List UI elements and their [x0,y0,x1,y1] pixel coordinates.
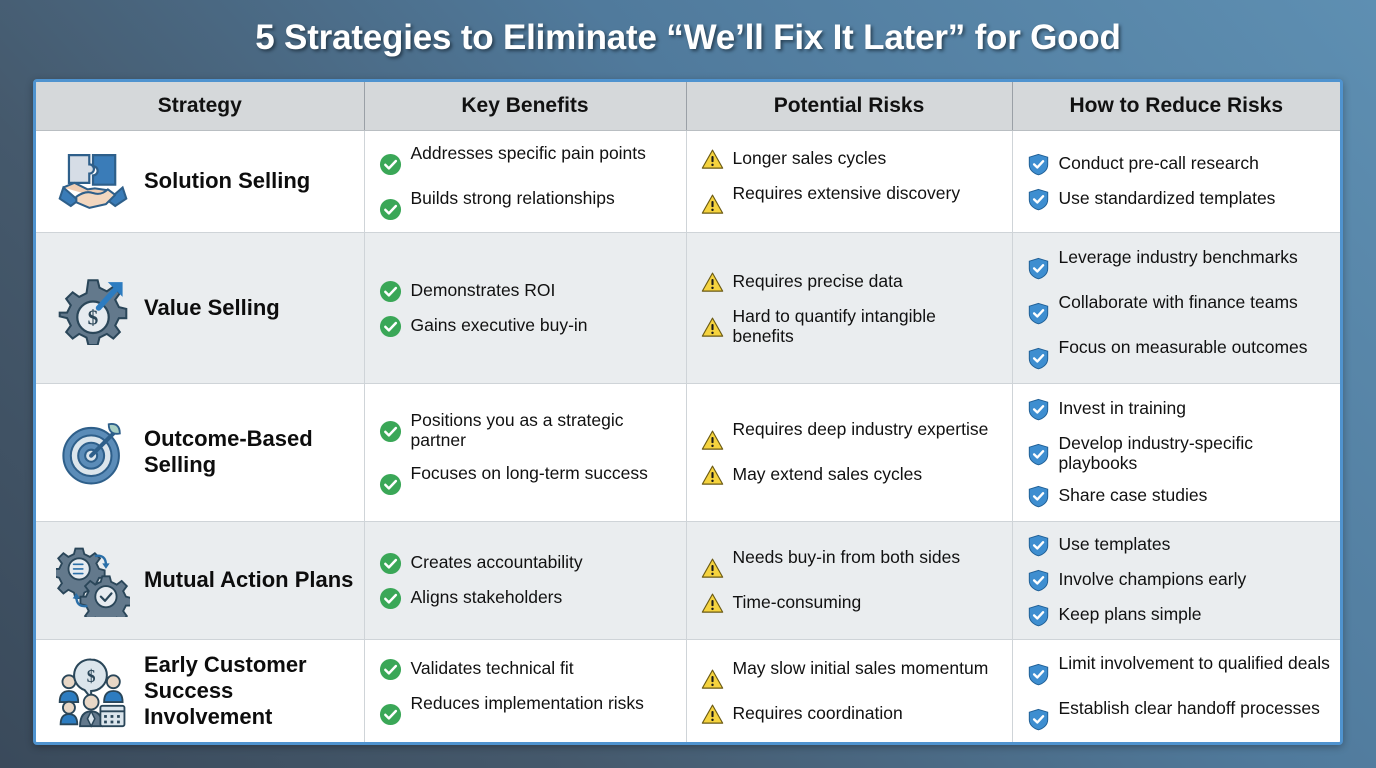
list-item: Aligns stakeholders [379,586,676,610]
list-item-label: Reduces implementation risks [411,692,644,713]
yellow-warning-triangle-icon [701,148,724,171]
blue-shield-check-icon [1027,443,1050,466]
list-item: Creates accountability [379,551,676,575]
list-item: Share case studies [1027,484,1331,508]
yellow-warning-triangle-icon [701,271,724,294]
list-item-label: Hard to quantify intangible benefits [733,305,1002,347]
team-calendar-icon [56,654,130,728]
cell-strategy: Early Customer Success Involvement [36,640,364,742]
yellow-warning-triangle-icon [701,557,724,580]
benefits-list: Creates accountabilityAligns stakeholder… [379,551,676,610]
list-item: Needs buy-in from both sides [701,546,1002,580]
strategy-name: Mutual Action Plans [144,567,353,593]
benefits-list: Positions you as a strategic partnerFocu… [379,409,676,496]
cell-reduce: Limit involvement to qualified dealsEsta… [1012,640,1340,742]
list-item: Demonstrates ROI [379,279,676,303]
list-item-label: Conduct pre-call research [1059,152,1259,173]
risks-list: Requires precise dataHard to quantify in… [701,270,1002,347]
column-header-potential-risks: Potential Risks [686,82,1012,130]
risks-list: May slow initial sales momentumRequires … [701,657,1002,726]
green-check-circle-icon [379,658,402,681]
reduce-list: Limit involvement to qualified dealsEsta… [1027,652,1331,731]
list-item-label: Gains executive buy-in [411,314,588,335]
list-item: Requires coordination [701,702,1002,726]
green-check-circle-icon [379,153,402,176]
yellow-warning-triangle-icon [701,464,724,487]
list-item-label: May extend sales cycles [733,463,923,484]
list-item: Leverage industry benchmarks [1027,246,1331,280]
cell-risks: Needs buy-in from both sidesTime-consumi… [686,521,1012,640]
yellow-warning-triangle-icon [701,592,724,615]
list-item: Establish clear handoff processes [1027,697,1331,731]
blue-shield-check-icon [1027,347,1050,370]
list-item: Builds strong relationships [379,187,676,221]
list-item-label: Share case studies [1059,484,1208,505]
blue-shield-check-icon [1027,708,1050,731]
table-row: Mutual Action PlansCreates accountabilit… [36,521,1340,640]
cell-strategy: Outcome-Based Selling [36,384,364,522]
table-row: Value SellingDemonstrates ROIGains execu… [36,233,1340,384]
table-body: Solution SellingAddresses specific pain … [36,130,1340,742]
list-item: Use standardized templates [1027,187,1331,211]
reduce-list: Invest in trainingDevelop industry-speci… [1027,397,1331,509]
list-item-label: Leverage industry benchmarks [1059,246,1298,267]
cell-risks: May slow initial sales momentumRequires … [686,640,1012,742]
list-item: Keep plans simple [1027,603,1331,627]
cell-reduce: Conduct pre-call researchUse standardize… [1012,130,1340,233]
list-item-label: Develop industry-specific playbooks [1059,432,1331,474]
reduce-list: Conduct pre-call researchUse standardize… [1027,152,1331,211]
cell-strategy: Solution Selling [36,130,364,233]
list-item: Addresses specific pain points [379,142,676,176]
strategy-name: Value Selling [144,295,280,321]
blue-shield-check-icon [1027,257,1050,280]
green-check-circle-icon [379,315,402,338]
list-item: Focus on measurable outcomes [1027,336,1331,370]
cell-risks: Requires precise dataHard to quantify in… [686,233,1012,384]
reduce-list: Use templatesInvolve champions earlyKeep… [1027,533,1331,627]
blue-shield-check-icon [1027,663,1050,686]
table-header-row: Strategy Key Benefits Potential Risks Ho… [36,82,1340,130]
list-item-label: Longer sales cycles [733,147,887,168]
list-item-label: Focuses on long-term success [411,462,648,483]
list-item: Time-consuming [701,591,1002,615]
list-item-label: Keep plans simple [1059,603,1202,624]
blue-shield-check-icon [1027,153,1050,176]
gear-dollar-growth-icon [56,271,130,345]
green-check-circle-icon [379,280,402,303]
list-item-label: Requires extensive discovery [733,182,961,203]
list-item-label: Use templates [1059,533,1171,554]
list-item: Focuses on long-term success [379,462,676,496]
list-item: Develop industry-specific playbooks [1027,432,1331,474]
gears-checklist-icon [56,543,130,617]
table-row: Solution SellingAddresses specific pain … [36,130,1340,233]
list-item: Requires deep industry expertise [701,418,1002,452]
list-item-label: Invest in training [1059,397,1186,418]
list-item: Limit involvement to qualified deals [1027,652,1331,686]
strategy-cell: Mutual Action Plans [50,543,354,617]
cell-benefits: Demonstrates ROIGains executive buy-in [364,233,686,384]
benefits-list: Demonstrates ROIGains executive buy-in [379,279,676,338]
list-item-label: May slow initial sales momentum [733,657,989,678]
strategy-name: Solution Selling [144,168,310,194]
green-check-circle-icon [379,198,402,221]
blue-shield-check-icon [1027,302,1050,325]
list-item-label: Requires coordination [733,702,903,723]
list-item-label: Time-consuming [733,591,862,612]
list-item-label: Focus on measurable outcomes [1059,336,1308,357]
strategies-table: Strategy Key Benefits Potential Risks Ho… [36,82,1340,742]
green-check-circle-icon [379,587,402,610]
risks-list: Requires deep industry expertiseMay exte… [701,418,1002,487]
cell-benefits: Positions you as a strategic partnerFocu… [364,384,686,522]
yellow-warning-triangle-icon [701,316,724,339]
green-check-circle-icon [379,703,402,726]
list-item: Invest in training [1027,397,1331,421]
table-row: Outcome-Based SellingPositions you as a … [36,384,1340,522]
green-check-circle-icon [379,420,402,443]
strategy-cell: Early Customer Success Involvement [50,652,354,730]
table-header: Strategy Key Benefits Potential Risks Ho… [36,82,1340,130]
list-item-label: Requires precise data [733,270,903,291]
list-item-label: Limit involvement to qualified deals [1059,652,1330,673]
list-item-label: Creates accountability [411,551,583,572]
list-item-label: Demonstrates ROI [411,279,556,300]
list-item: Gains executive buy-in [379,314,676,338]
risks-list: Needs buy-in from both sidesTime-consumi… [701,546,1002,615]
list-item-label: Positions you as a strategic partner [411,409,676,451]
list-item-label: Involve champions early [1059,568,1247,589]
blue-shield-check-icon [1027,398,1050,421]
cell-benefits: Creates accountabilityAligns stakeholder… [364,521,686,640]
strategy-cell: Solution Selling [50,144,354,218]
list-item: Reduces implementation risks [379,692,676,726]
cell-risks: Longer sales cyclesRequires extensive di… [686,130,1012,233]
blue-shield-check-icon [1027,604,1050,627]
page-title: 5 Strategies to Eliminate “We’ll Fix It … [255,18,1120,58]
reduce-list: Leverage industry benchmarksCollaborate … [1027,246,1331,370]
list-item-label: Requires deep industry expertise [733,418,989,439]
list-item: Positions you as a strategic partner [379,409,676,451]
list-item-label: Collaborate with finance teams [1059,291,1298,312]
cell-strategy: Mutual Action Plans [36,521,364,640]
blue-shield-check-icon [1027,188,1050,211]
cell-reduce: Use templatesInvolve champions earlyKeep… [1012,521,1340,640]
yellow-warning-triangle-icon [701,668,724,691]
list-item: May extend sales cycles [701,463,1002,487]
strategy-name: Early Customer Success Involvement [144,652,354,730]
target-arrow-icon [56,415,130,489]
strategy-name: Outcome-Based Selling [144,426,354,478]
list-item: Longer sales cycles [701,147,1002,171]
yellow-warning-triangle-icon [701,703,724,726]
cell-reduce: Leverage industry benchmarksCollaborate … [1012,233,1340,384]
table-row: Early Customer Success InvolvementValida… [36,640,1340,742]
yellow-warning-triangle-icon [701,429,724,452]
green-check-circle-icon [379,473,402,496]
puzzle-handshake-icon [56,144,130,218]
cell-reduce: Invest in trainingDevelop industry-speci… [1012,384,1340,522]
list-item: May slow initial sales momentum [701,657,1002,691]
list-item-label: Aligns stakeholders [411,586,563,607]
list-item: Collaborate with finance teams [1027,291,1331,325]
list-item-label: Establish clear handoff processes [1059,697,1320,718]
list-item: Conduct pre-call research [1027,152,1331,176]
list-item-label: Validates technical fit [411,657,574,678]
blue-shield-check-icon [1027,534,1050,557]
column-header-how-to-reduce-risks: How to Reduce Risks [1012,82,1340,130]
list-item: Validates technical fit [379,657,676,681]
list-item: Involve champions early [1027,568,1331,592]
strategies-table-container: Strategy Key Benefits Potential Risks Ho… [33,79,1343,745]
list-item: Hard to quantify intangible benefits [701,305,1002,347]
cell-benefits: Addresses specific pain pointsBuilds str… [364,130,686,233]
blue-shield-check-icon [1027,485,1050,508]
list-item: Requires precise data [701,270,1002,294]
column-header-strategy: Strategy [36,82,364,130]
list-item-label: Builds strong relationships [411,187,615,208]
list-item: Use templates [1027,533,1331,557]
blue-shield-check-icon [1027,569,1050,592]
list-item: Requires extensive discovery [701,182,1002,216]
strategy-cell: Value Selling [50,271,354,345]
yellow-warning-triangle-icon [701,193,724,216]
column-header-key-benefits: Key Benefits [364,82,686,130]
green-check-circle-icon [379,552,402,575]
list-item-label: Addresses specific pain points [411,142,646,163]
benefits-list: Addresses specific pain pointsBuilds str… [379,142,676,221]
list-item-label: Needs buy-in from both sides [733,546,961,567]
benefits-list: Validates technical fitReduces implement… [379,657,676,726]
list-item-label: Use standardized templates [1059,187,1276,208]
cell-risks: Requires deep industry expertiseMay exte… [686,384,1012,522]
cell-benefits: Validates technical fitReduces implement… [364,640,686,742]
cell-strategy: Value Selling [36,233,364,384]
risks-list: Longer sales cyclesRequires extensive di… [701,147,1002,216]
strategy-cell: Outcome-Based Selling [50,415,354,489]
title-bar: 5 Strategies to Eliminate “We’ll Fix It … [0,0,1376,76]
